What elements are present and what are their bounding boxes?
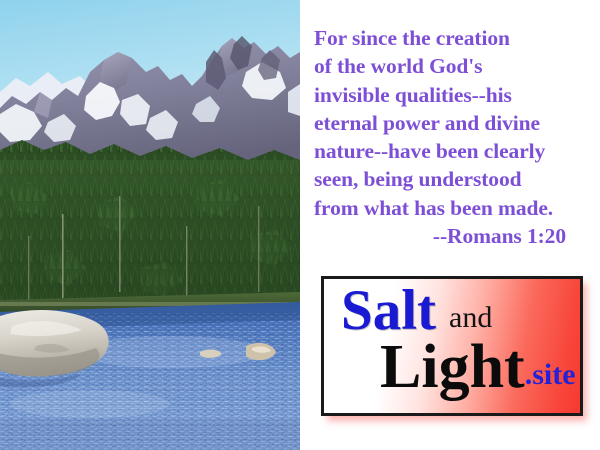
verse-line-7: from what has been made. bbox=[314, 194, 592, 222]
verse-line-6: seen, being understood bbox=[314, 165, 592, 193]
poster-canvas: For since the creation of the world God'… bbox=[0, 0, 600, 450]
verse-line-2: of the world God's bbox=[314, 52, 592, 80]
logo-word-light: Light bbox=[380, 331, 525, 404]
logo-inner: Salt and Light .site bbox=[324, 279, 580, 413]
verse-line-5: nature--have been clearly bbox=[314, 137, 592, 165]
verse-line-1: For since the creation bbox=[314, 24, 592, 52]
verse-reference: --Romans 1:20 bbox=[314, 222, 592, 250]
logo-word-and: and bbox=[449, 301, 492, 335]
mountain-lake-photo bbox=[0, 0, 300, 450]
photo-artwork bbox=[0, 0, 300, 450]
logo-word-site: .site bbox=[525, 358, 576, 392]
verse-line-3: invisible qualities--his bbox=[314, 81, 592, 109]
salt-and-light-logo[interactable]: Salt and Light .site bbox=[321, 276, 583, 416]
logo-row-light: Light .site bbox=[380, 331, 576, 404]
scripture-verse: For since the creation of the world God'… bbox=[314, 24, 592, 250]
verse-line-4: eternal power and divine bbox=[314, 109, 592, 137]
